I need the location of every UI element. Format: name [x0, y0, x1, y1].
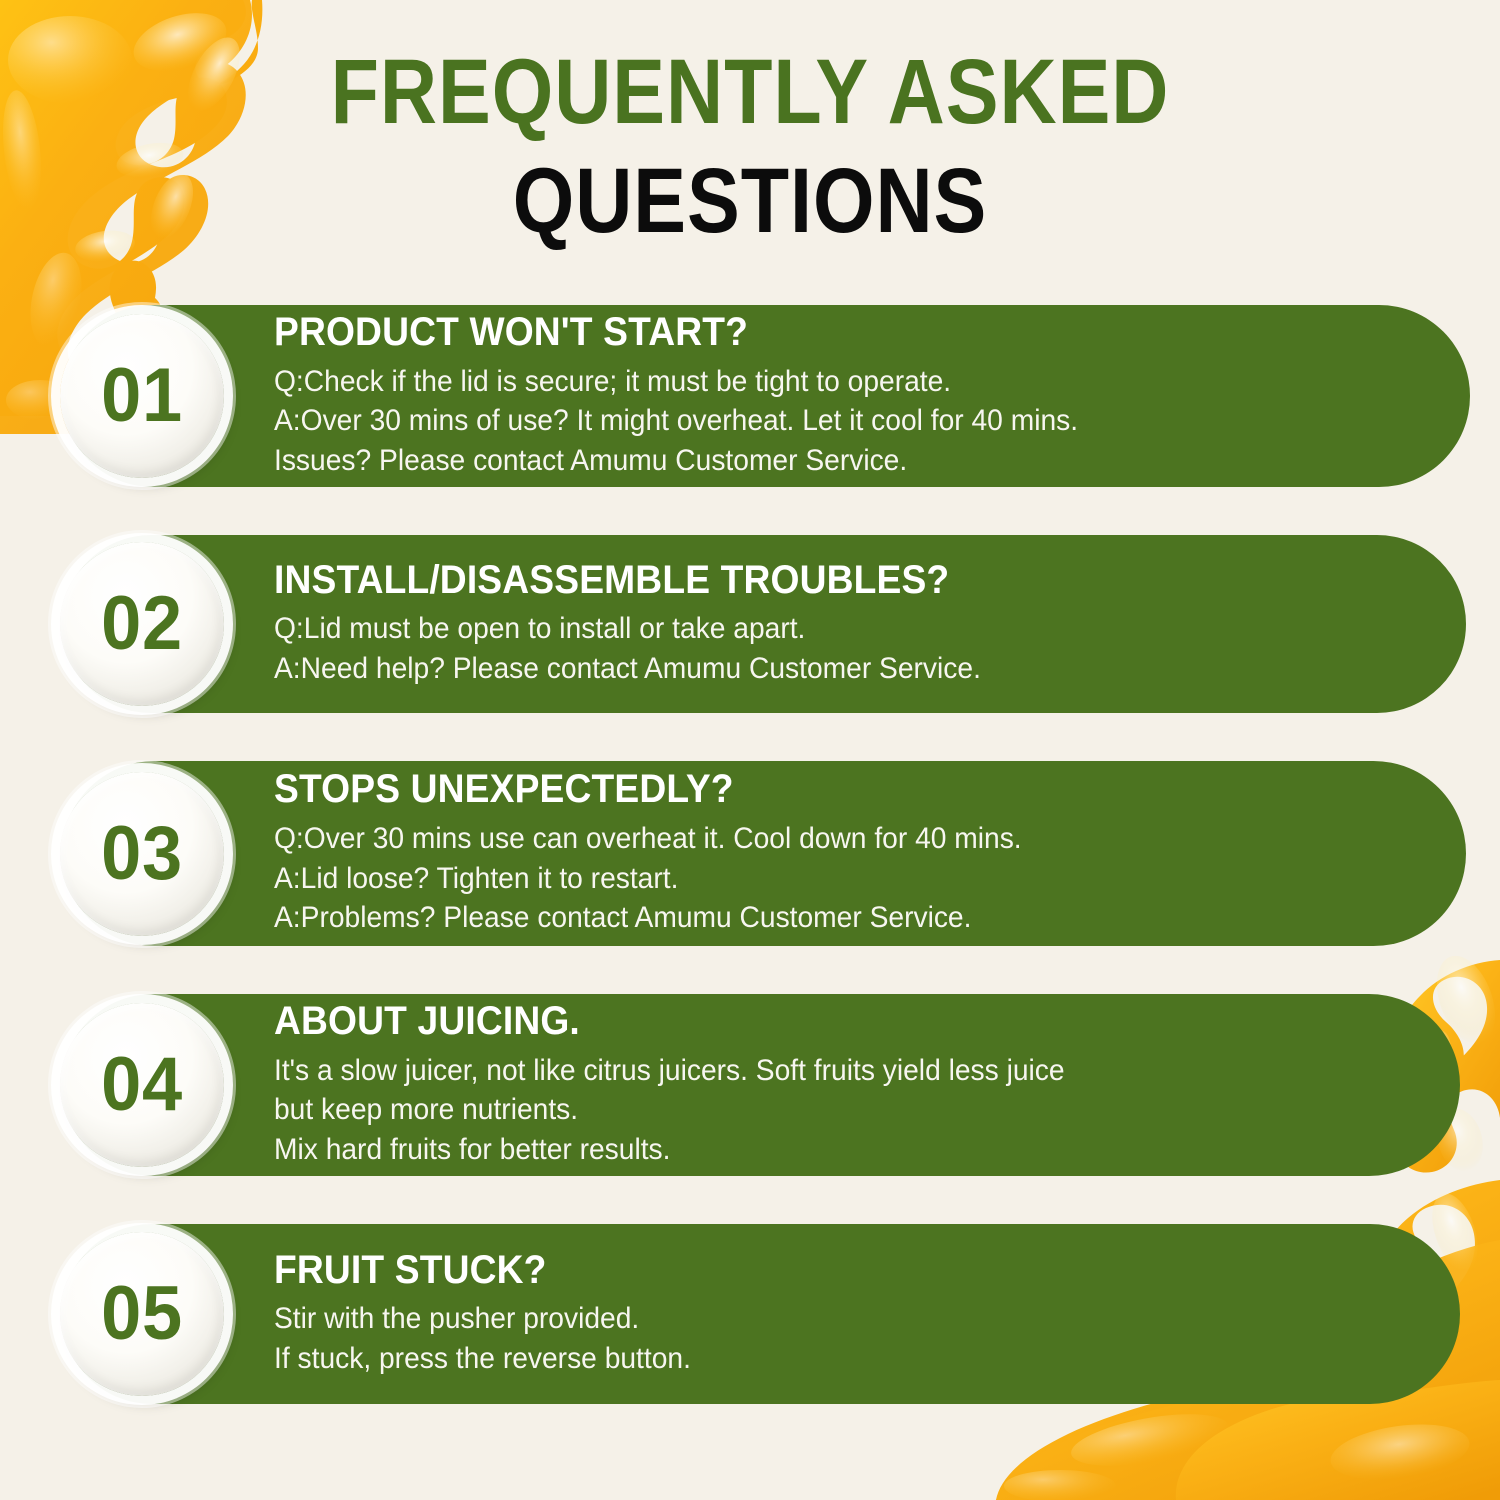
faq-number-03: 03: [101, 816, 183, 892]
faq-lines-04: It's a slow juicer, not like citrus juic…: [274, 1051, 1065, 1170]
faq-line: Mix hard fruits for better results.: [274, 1130, 1065, 1170]
faq-item-05[interactable]: 05 FRUIT STUCK? Stir with the pusher pro…: [62, 1224, 1460, 1404]
page-title-line-1: FREQUENTLY ASKED: [105, 46, 1395, 138]
faq-lines-05: Stir with the pusher provided. If stuck,…: [274, 1299, 691, 1378]
faq-content-04: ABOUT JUICING. It's a slow juicer, not l…: [274, 1001, 1155, 1170]
faq-number-badge-01: 01: [60, 314, 224, 478]
page-title-line-2: QUESTIONS: [105, 155, 1395, 247]
faq-number-02: 02: [101, 586, 183, 662]
faq-page: FREQUENTLY ASKED QUESTIONS 01 PRODUCT WO…: [0, 0, 1500, 1500]
faq-line: A:Over 30 mins of use? It might overheat…: [274, 401, 1078, 441]
faq-item-02[interactable]: 02 INSTALL/DISASSEMBLE TROUBLES? Q:Lid m…: [62, 535, 1466, 713]
page-header: FREQUENTLY ASKED QUESTIONS: [0, 46, 1500, 247]
faq-title-04: ABOUT JUICING.: [274, 1001, 1056, 1042]
faq-line: It's a slow juicer, not like citrus juic…: [274, 1051, 1065, 1091]
faq-line: but keep more nutrients.: [274, 1090, 1065, 1130]
faq-list: 01 PRODUCT WON'T START? Q:Check if the l…: [0, 305, 1500, 1452]
faq-content-01: PRODUCT WON'T START? Q:Check if the lid …: [274, 312, 1169, 481]
faq-number-badge-02: 02: [60, 542, 224, 706]
faq-number-badge-03: 03: [60, 772, 224, 936]
faq-lines-01: Q:Check if the lid is secure; it must be…: [274, 362, 1078, 481]
faq-line: Q:Check if the lid is secure; it must be…: [274, 362, 1078, 402]
faq-line: Q:Lid must be open to install or take ap…: [274, 609, 981, 649]
faq-line: Issues? Please contact Amumu Customer Se…: [274, 441, 1078, 481]
faq-content-03: STOPS UNEXPECTEDLY? Q:Over 30 mins use c…: [274, 769, 1109, 938]
faq-number-04: 04: [101, 1047, 183, 1123]
faq-content-05: FRUIT STUCK? Stir with the pusher provid…: [274, 1250, 758, 1379]
faq-number-01: 01: [101, 358, 183, 434]
faq-line: If stuck, press the reverse button.: [274, 1339, 691, 1379]
faq-line: A:Lid loose? Tighten it to restart.: [274, 859, 1022, 899]
faq-lines-02: Q:Lid must be open to install or take ap…: [274, 609, 981, 688]
faq-number-05: 05: [101, 1276, 183, 1352]
faq-title-05: FRUIT STUCK?: [274, 1250, 686, 1291]
faq-number-badge-05: 05: [60, 1232, 224, 1396]
faq-title-01: PRODUCT WON'T START?: [274, 312, 1070, 353]
faq-item-04[interactable]: 04 ABOUT JUICING. It's a slow juicer, no…: [62, 994, 1460, 1176]
faq-item-03[interactable]: 03 STOPS UNEXPECTEDLY? Q:Over 30 mins us…: [62, 761, 1466, 946]
faq-title-03: STOPS UNEXPECTEDLY?: [274, 769, 1014, 810]
faq-title-02: INSTALL/DISASSEMBLE TROUBLES?: [274, 560, 973, 601]
faq-line: A:Problems? Please contact Amumu Custome…: [274, 898, 1022, 938]
faq-content-02: INSTALL/DISASSEMBLE TROUBLES? Q:Lid must…: [274, 560, 1066, 689]
faq-lines-03: Q:Over 30 mins use can overheat it. Cool…: [274, 819, 1022, 938]
faq-line: A:Need help? Please contact Amumu Custom…: [274, 649, 981, 689]
faq-number-badge-04: 04: [60, 1003, 224, 1167]
faq-item-01[interactable]: 01 PRODUCT WON'T START? Q:Check if the l…: [62, 305, 1470, 487]
faq-line: Stir with the pusher provided.: [274, 1299, 691, 1339]
faq-line: Q:Over 30 mins use can overheat it. Cool…: [274, 819, 1022, 859]
